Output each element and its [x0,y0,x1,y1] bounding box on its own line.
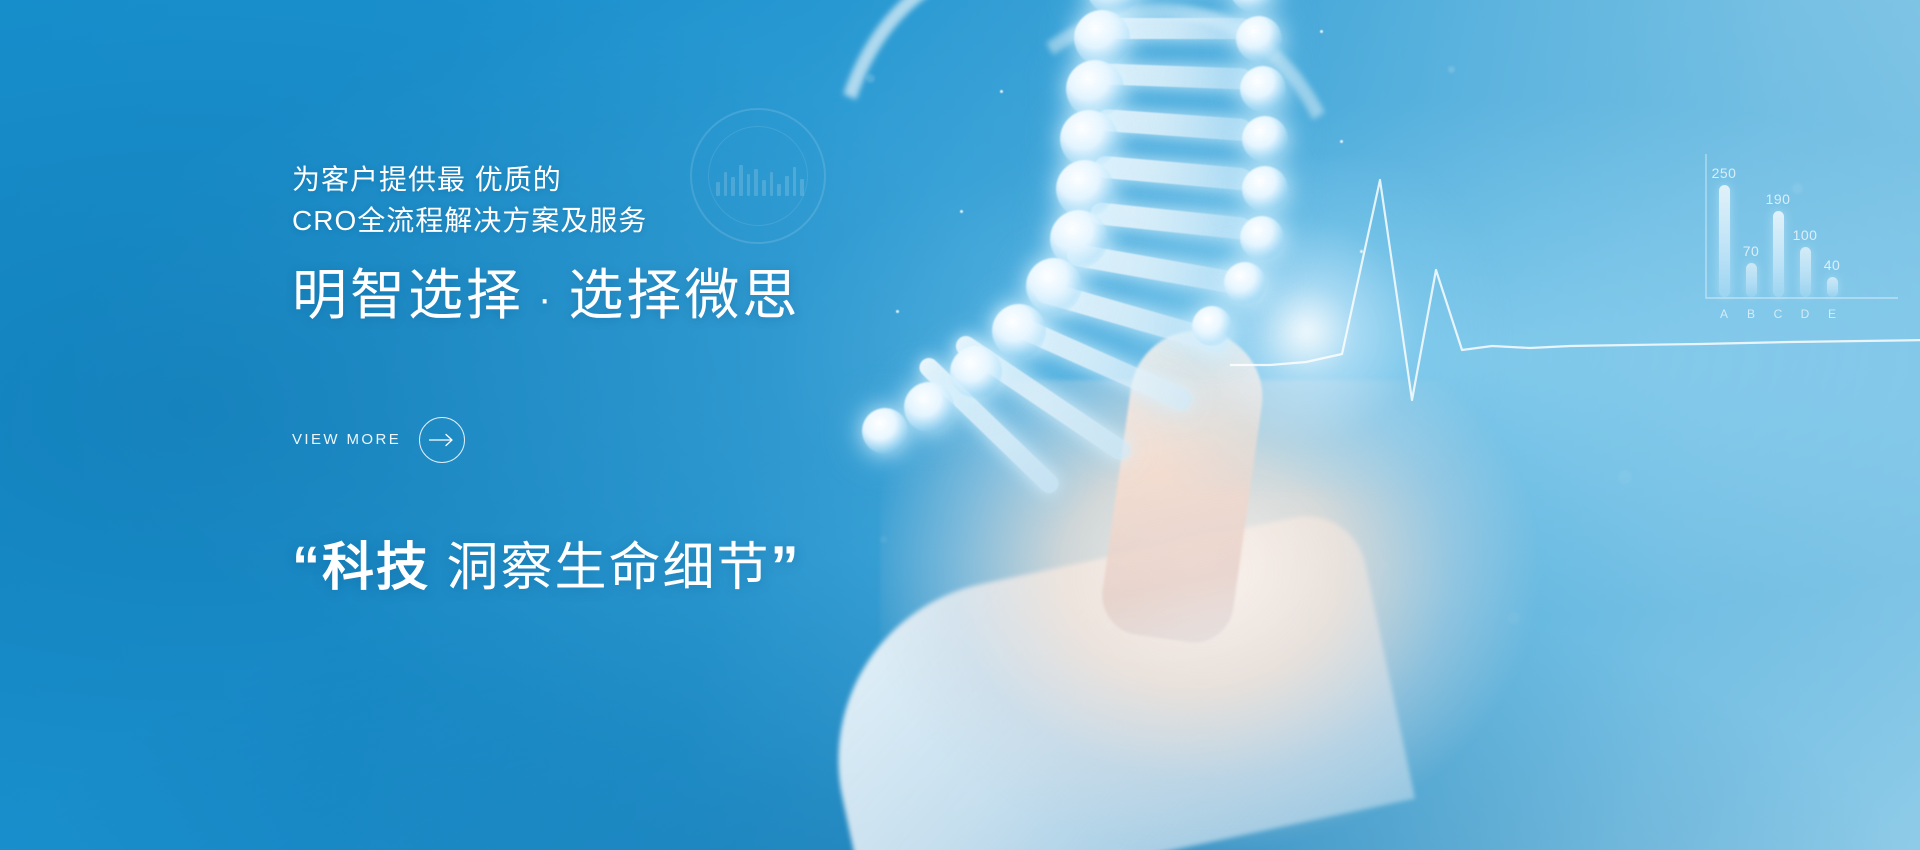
headline-right: 选择微思 [568,264,800,326]
x-label: C [1772,307,1784,321]
bar-chart-x-labels: A B C D E [1718,307,1886,321]
bar-chart-widget: 250 70 190 100 40 A B C D [1700,150,1900,325]
bar [1746,263,1757,297]
bar-value-label: 190 [1766,191,1791,207]
quote-strong: 科技 [322,539,430,597]
bar-value-label: 70 [1743,243,1760,259]
quote-close-mark: ” [770,534,800,597]
bar-column: 40 [1826,177,1838,297]
dna-speckle [1000,90,1003,93]
dna-node [1240,66,1286,112]
subtitle-line-1: 为客户提供最 优质的 [292,160,932,201]
bar-column: 70 [1745,177,1757,297]
x-label: E [1826,307,1838,321]
dna-node [1026,258,1082,314]
bar-value-label: 40 [1824,257,1841,273]
quote-open-mark: “ [292,534,322,597]
dna-node [1074,10,1130,66]
dna-node [1230,0,1276,12]
dna-speckle [1340,140,1343,143]
x-label: D [1799,307,1811,321]
bar-column: 190 [1772,177,1784,297]
dna-speckle [1320,30,1323,33]
hero-headline: 明智选择·选择微思 [292,263,932,328]
bar [1719,185,1730,297]
dna-node [1056,160,1114,218]
hero-copy: 为客户提供最 优质的 CRO全流程解决方案及服务 明智选择·选择微思 VIEW … [292,160,932,600]
dna-node [1066,60,1124,118]
view-more-label: VIEW MORE [292,431,401,448]
bar [1800,247,1811,297]
hero-subtitle: 为客户提供最 优质的 CRO全流程解决方案及服务 [292,160,932,241]
bokeh-dot [1618,470,1632,484]
dna-node [950,346,1002,398]
x-label: B [1745,307,1757,321]
hero-banner: 250 70 190 100 40 A B C D [0,0,1920,850]
bokeh-dot [1448,66,1455,73]
dna-node [992,304,1046,358]
subtitle-line-2: CRO全流程解决方案及服务 [292,201,932,242]
quote-light: 洞察生命细节 [430,539,770,597]
dna-node [1236,16,1282,62]
bar-column: 250 [1718,177,1730,297]
bar-column: 100 [1799,177,1811,297]
x-label: A [1718,307,1730,321]
bar-value-label: 100 [1793,227,1818,243]
headline-left: 明智选择 [292,264,524,326]
bar-chart-bars: 250 70 190 100 40 [1718,177,1886,297]
dna-node [1192,306,1232,346]
hero-quote: “科技 洞察生命细节” [292,525,932,600]
arrow-right-icon[interactable] [419,417,465,463]
view-more-button[interactable]: VIEW MORE [292,417,465,463]
dna-speckle [960,210,963,213]
bar [1827,277,1838,297]
bar [1773,211,1784,297]
headline-separator: · [538,277,554,321]
bar-value-label: 250 [1712,165,1737,181]
